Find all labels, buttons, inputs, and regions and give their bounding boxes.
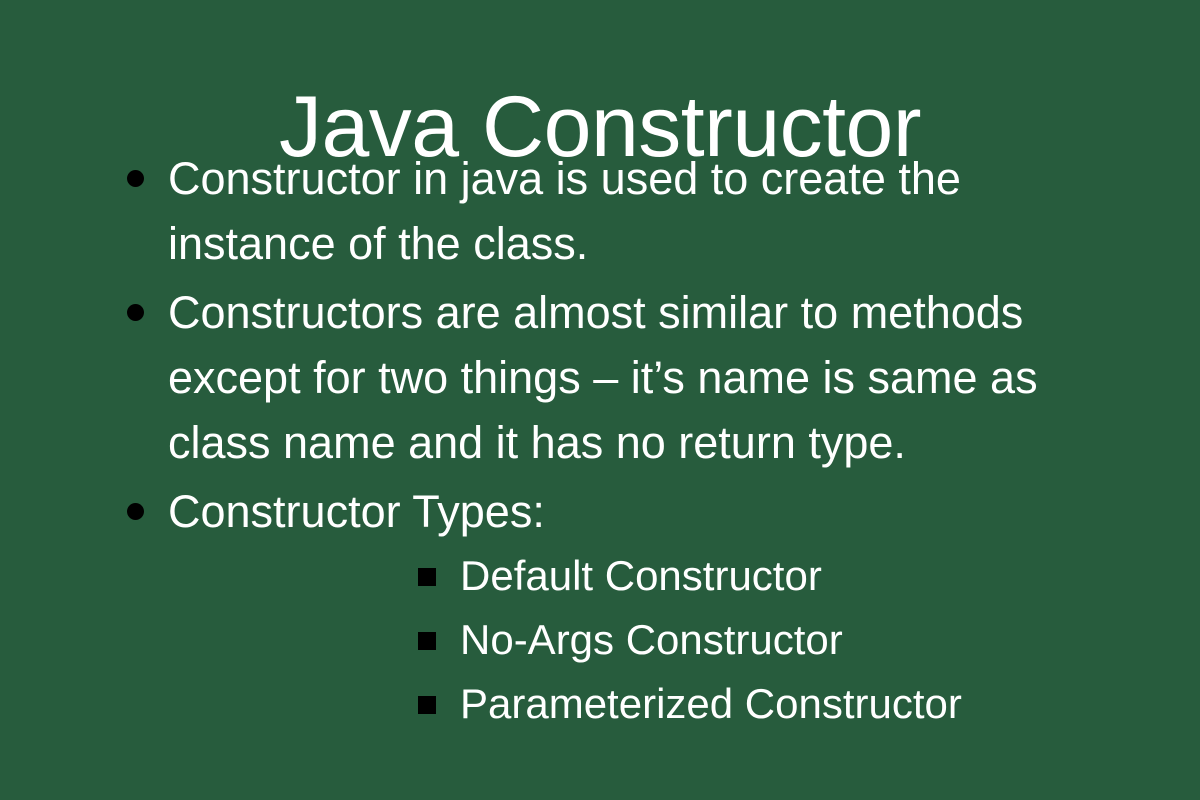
bullet-square-icon bbox=[418, 568, 436, 586]
slide-content: Constructor in java is used to create th… bbox=[0, 146, 1200, 740]
sub-list-item-text: No-Args Constructor bbox=[460, 608, 1095, 672]
bullet-list: Constructor in java is used to create th… bbox=[0, 146, 1200, 736]
bullet-dot-icon bbox=[127, 170, 144, 187]
sub-bullet-list: Default Constructor No-Args Constructor … bbox=[168, 544, 1095, 736]
list-item-text: Constructor Types: bbox=[168, 479, 1095, 544]
list-item: Constructor in java is used to create th… bbox=[0, 146, 1095, 276]
list-item: Constructor Types: Default Constructor N… bbox=[0, 479, 1095, 736]
sub-list-item: Default Constructor bbox=[168, 544, 1095, 608]
list-item-text: Constructors are almost similar to metho… bbox=[168, 280, 1095, 475]
sub-list-item-text: Default Constructor bbox=[460, 544, 1095, 608]
bullet-dot-icon bbox=[127, 503, 144, 520]
sub-list-item-text: Parameterized Constructor bbox=[460, 672, 1095, 736]
slide-canvas: Java Constructor Constructor in java is … bbox=[0, 0, 1200, 800]
list-item: Constructors are almost similar to metho… bbox=[0, 280, 1095, 475]
sub-list-item: Parameterized Constructor bbox=[168, 672, 1095, 736]
bullet-square-icon bbox=[418, 632, 436, 650]
sub-list-item: No-Args Constructor bbox=[168, 608, 1095, 672]
bullet-square-icon bbox=[418, 696, 436, 714]
list-item-text: Constructor in java is used to create th… bbox=[168, 146, 1095, 276]
bullet-dot-icon bbox=[127, 304, 144, 321]
